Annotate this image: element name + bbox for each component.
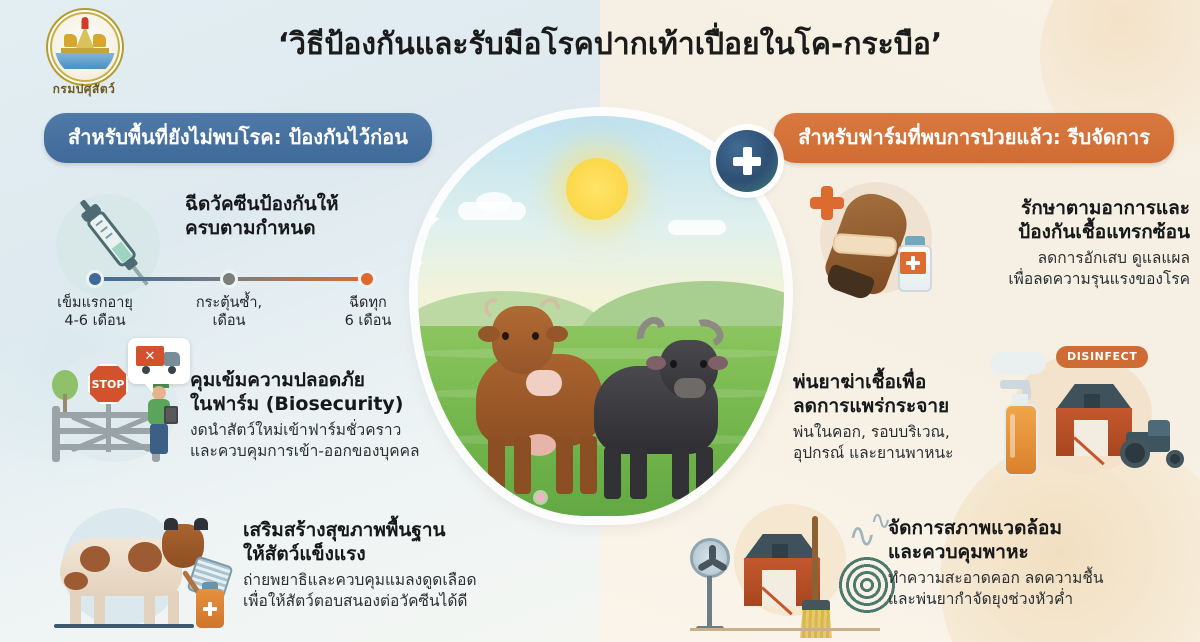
timeline-label-1: เข็มแรกอายุ 4-6 เดือน	[35, 294, 155, 330]
stop-sign-icon: STOP	[88, 364, 128, 404]
item-treatment-heading-line2: ป้องกันเชื้อแทรกซ้อน	[955, 220, 1190, 244]
bandage-icon	[832, 233, 897, 257]
item-environment-heading-line2: และควบคุมพาหะ	[888, 540, 1138, 564]
item-disinfection-sub-line1: พ่นในคอก, รอบบริเวณ,	[793, 422, 973, 443]
item-basic-health-heading-line2: ให้สัตว์แข็งแรง	[243, 542, 483, 566]
item-basic-health-sub-line2: เพื่อให้สัตว์ตอบสนองต่อวัคซีนได้ดี	[243, 591, 483, 612]
vaccination-timeline: เข็มแรกอายุ 4-6 เดือน กระตุ้นซ้ำ, เดือน …	[72, 268, 392, 338]
item-vaccination-heading-line2: ครบตามกำหนด	[185, 216, 400, 240]
medicine-vial-icon	[194, 582, 226, 628]
timeline-dot-2	[220, 270, 238, 288]
hero-illustration: ✦ ✦	[418, 116, 784, 516]
orange-cross-icon	[810, 186, 844, 220]
item-symptomatic-treatment: รักษาตามอาการและ ป้องกันเชื้อแทรกซ้อน ลด…	[955, 196, 1190, 290]
item-biosecurity-sub-line2: และควบคุมการเข้า-ออกของบุคคล	[190, 441, 445, 462]
item-biosecurity-heading-line2: ในฟาร์ม (Biosecurity)	[190, 392, 445, 416]
item-vaccination: ฉีดวัคซีนป้องกันให้ ครบตามกำหนด	[185, 192, 400, 241]
item-biosecurity-sub-line1: งดนำสัตว์ใหม่เข้าฟาร์มชั่วคราว	[190, 420, 445, 441]
item-disinfection-sub-line2: อุปกรณ์ และยานพาหนะ	[793, 443, 973, 464]
disinfectant-spray-icon: DISINFECT	[990, 338, 1195, 488]
black-buffalo-illustration	[594, 304, 744, 499]
section-banner-response: สำหรับฟาร์มที่พบการป่วยแล้ว: รีบจัดการ	[774, 113, 1174, 163]
item-disinfection: พ่นยาฆ่าเชื้อเพื่อ ลดการแพร่กระจาย พ่นใน…	[793, 370, 973, 464]
farm-gate-stop-sign-icon: STOP ✕	[44, 336, 196, 478]
item-disinfection-heading-line1: พ่นยาฆ่าเชื้อเพื่อ	[793, 370, 973, 394]
department-logo: กรมปศุสัตว์	[36, 4, 132, 108]
timeline-dot-1	[86, 270, 104, 288]
item-environment-sub-line1: ทำความสะอาดคอก ลดความชื้น	[888, 568, 1138, 589]
timeline-dot-3	[358, 270, 376, 288]
healthy-cow-icon	[44, 502, 240, 636]
sun-icon	[566, 158, 628, 220]
timeline-label-1-line2: 4-6 เดือน	[35, 312, 155, 330]
barn-cleaning-icon: ∿ ∿	[690, 498, 890, 642]
item-disinfection-heading-line2: ลดการแพร่กระจาย	[793, 394, 973, 418]
item-treatment-sub-line2: เพื่อลดความรุนแรงของโรค	[955, 269, 1190, 290]
page-title: ‘วิธีป้องกันและรับมือโรคปากเท้าเปื่อยในโ…	[150, 26, 1070, 64]
item-treatment-heading-line1: รักษาตามอาการและ	[955, 196, 1190, 220]
timeline-label-2-line2: เดือน	[169, 312, 289, 330]
spray-bottle-icon	[996, 380, 1046, 476]
timeline-label-3-line2: 6 เดือน	[308, 312, 428, 330]
garuda-seal-icon	[46, 8, 124, 86]
infographic-canvas: กรมปศุสัตว์ ‘วิธีป้องกันและรับมือโรคปากเ…	[0, 0, 1200, 642]
item-biosecurity: คุมเข้มความปลอดภัย ในฟาร์ม (Biosecurity)…	[190, 368, 445, 462]
medical-cross-badge-icon	[716, 130, 778, 192]
no-entry-truck-bubble: ✕	[128, 338, 190, 384]
timeline-label-3-line1: ฉีดทุก	[308, 294, 428, 312]
timeline-label-3: ฉีดทุก 6 เดือน	[308, 294, 428, 330]
truck-x-mark: ✕	[136, 346, 164, 366]
item-treatment-sub-line1: ลดการอักเสบ ดูแลแผล	[955, 248, 1190, 269]
tractor-icon	[1120, 422, 1188, 468]
timeline-label-2-line1: กระตุ้นซ้ำ,	[169, 294, 289, 312]
item-basic-health-heading-line1: เสริมสร้างสุขภาพพื้นฐาน	[243, 518, 483, 542]
timeline-label-1-line1: เข็มแรกอายุ	[35, 294, 155, 312]
item-biosecurity-heading-line1: คุมเข้มความปลอดภัย	[190, 368, 445, 392]
section-banner-prevention: สำหรับพื้นที่ยังไม่พบโรค: ป้องกันไว้ก่อน	[44, 113, 432, 163]
item-environment-heading-line1: จัดการสภาพแวดล้อม	[888, 516, 1138, 540]
item-environment-management: จัดการสภาพแวดล้อม และควบคุมพาหะ ทำความสะ…	[888, 516, 1138, 610]
broom-icon	[800, 516, 830, 636]
item-environment-sub-line2: และพ่นยากำจัดยุงช่วงหัวค่ำ	[888, 589, 1138, 610]
item-basic-health: เสริมสร้างสุขภาพพื้นฐาน ให้สัตว์แข็งแรง …	[243, 518, 483, 612]
item-basic-health-sub-line1: ถ่ายพยาธิและควบคุมแมลงดูดเลือด	[243, 570, 483, 591]
bandaged-hoof-icon	[800, 178, 950, 308]
item-vaccination-heading-line1: ฉีดวัคซีนป้องกันให้	[185, 192, 400, 216]
disinfect-badge: DISINFECT	[1056, 346, 1148, 368]
medicine-bottle-icon	[896, 236, 934, 292]
logo-caption: กรมปศุสัตว์	[36, 80, 132, 99]
timeline-label-2: กระตุ้นซ้ำ, เดือน	[169, 294, 289, 330]
truck-icon: ✕	[136, 346, 182, 372]
fan-icon	[690, 538, 730, 634]
